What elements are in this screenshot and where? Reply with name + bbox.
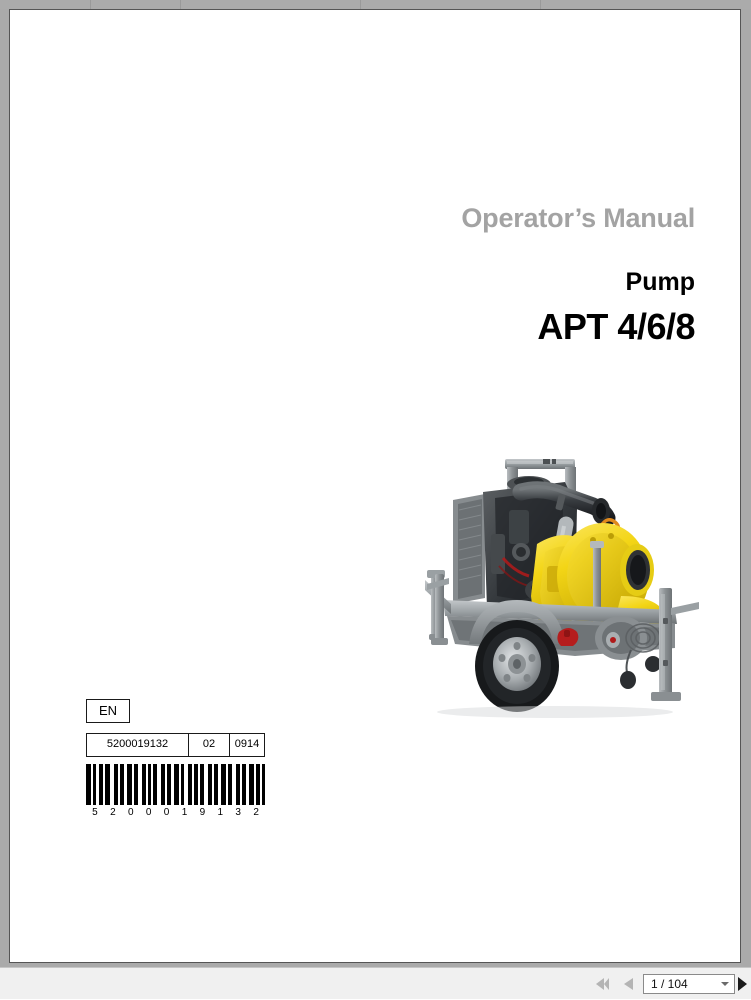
first-page-icon[interactable]: [589, 971, 615, 997]
top-strip-tick: [180, 0, 181, 9]
revision-cell: 02: [188, 734, 229, 756]
product-model-heading: APT 4/6/8: [537, 306, 695, 348]
barcode-digit: 5: [86, 806, 104, 819]
barcode-digit: 3: [229, 806, 247, 819]
barcode-digit: 2: [104, 806, 122, 819]
pdf-viewer: Operator’s Manual Pump APT 4/6/8: [0, 0, 751, 999]
document-page[interactable]: Operator’s Manual Pump APT 4/6/8: [9, 9, 741, 963]
top-strip-tick: [540, 0, 541, 9]
date-code-cell: 0914: [229, 734, 264, 756]
next-page-icon[interactable]: [737, 971, 751, 997]
barcode-digit: 9: [193, 806, 211, 819]
top-strip-tick: [90, 0, 91, 9]
barcode-digit: 0: [140, 806, 158, 819]
document-identification-label: EN 5200019132 02 0914: [86, 699, 286, 819]
page-navigation-group: 1 / 104: [589, 968, 751, 1000]
barcode-digit: 1: [211, 806, 229, 819]
barcode-digit: 2: [247, 806, 265, 819]
document-number-row: 5200019132 02 0914: [86, 733, 265, 757]
viewer-top-strip: [0, 0, 751, 9]
barcode-digit: 0: [158, 806, 176, 819]
product-type-heading: Pump: [626, 268, 695, 297]
chevron-down-icon[interactable]: [721, 982, 729, 986]
document-kind-heading: Operator’s Manual: [461, 203, 695, 234]
barcode: 5 2 0 0 0 1 9 1 3 2: [86, 764, 265, 819]
trailer-mounted-pump-photo: [425, 448, 717, 720]
barcode-bars: [86, 764, 265, 805]
previous-page-icon[interactable]: [615, 971, 641, 997]
top-strip-tick: [360, 0, 361, 9]
language-code-box: EN: [86, 699, 130, 723]
barcode-digit: 0: [122, 806, 140, 819]
page-number-value: 1 / 104: [644, 978, 688, 990]
page-number-input[interactable]: 1 / 104: [643, 974, 735, 994]
barcode-digit: 1: [176, 806, 194, 819]
barcode-digit-row: 5 2 0 0 0 1 9 1 3 2: [86, 806, 265, 819]
viewer-bottom-toolbar: 1 / 104: [0, 967, 751, 999]
document-number-cell: 5200019132: [87, 734, 188, 756]
